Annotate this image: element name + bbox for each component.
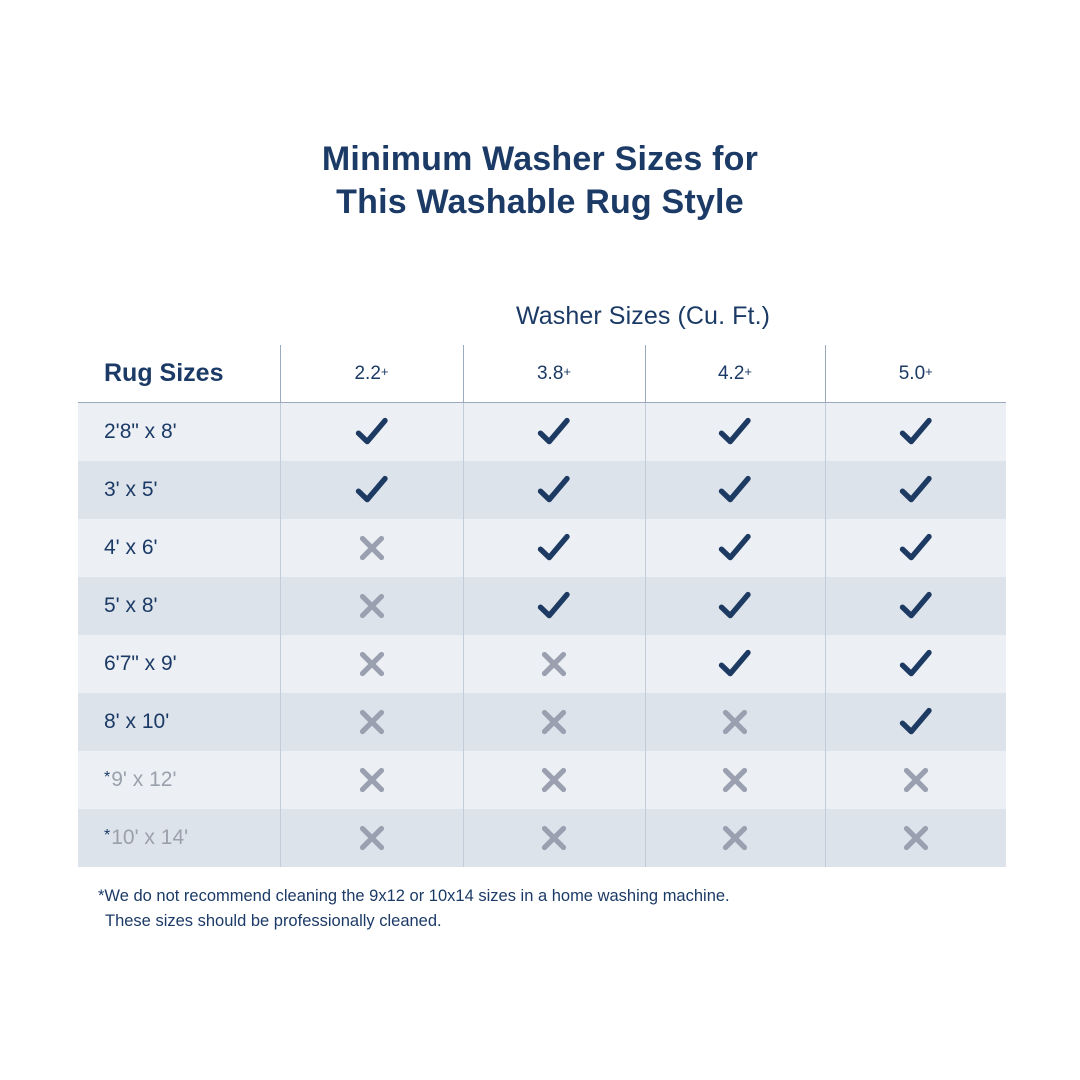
cross-icon	[901, 829, 931, 846]
cell-unsupported	[645, 751, 825, 809]
table-row: 6'7" x 9'	[78, 635, 1006, 693]
rug-size-label: 3' x 5'	[78, 461, 280, 519]
column-header-washer-2-2-value: 2.2	[354, 363, 380, 384]
table-row: 8' x 10'	[78, 693, 1006, 751]
cell-supported	[645, 461, 825, 519]
page-title-line-2: This Washable Rug Style	[0, 181, 1080, 224]
check-icon	[355, 481, 389, 498]
table-header-row: Rug Sizes 2.2+ 3.8+ 4.2+ 5.0+	[78, 345, 1006, 403]
rug-size-label: 4' x 6'	[78, 519, 280, 577]
cross-icon	[539, 713, 569, 730]
page-root: Minimum Washer Sizes for This Washable R…	[0, 0, 1080, 1080]
cross-icon	[357, 655, 387, 672]
cell-unsupported	[645, 693, 825, 751]
rug-size-label: 6'7" x 9'	[78, 635, 280, 693]
cell-supported	[825, 519, 1006, 577]
rug-size-label: 5' x 8'	[78, 577, 280, 635]
cell-unsupported	[825, 809, 1006, 867]
column-header-washer-4-2-value: 4.2	[718, 363, 744, 384]
column-header-washer-2-2: 2.2+	[280, 345, 463, 403]
check-icon	[718, 481, 752, 498]
rug-size-value: 10' x 14'	[111, 826, 188, 849]
cell-supported	[825, 693, 1006, 751]
rug-size-label: *10' x 14'	[78, 809, 280, 867]
cross-icon	[357, 713, 387, 730]
table-row: *9' x 12'	[78, 751, 1006, 809]
table-row: 2'8" x 8'	[78, 403, 1006, 461]
cell-unsupported	[280, 809, 463, 867]
check-icon	[899, 713, 933, 730]
cross-icon	[901, 771, 931, 788]
cell-supported	[280, 403, 463, 461]
column-header-washer-3-8: 3.8+	[463, 345, 645, 403]
column-header-washer-3-8-suffix: +	[563, 364, 571, 379]
cell-unsupported	[825, 751, 1006, 809]
page-title-line-1: Minimum Washer Sizes for	[0, 138, 1080, 181]
rug-size-label: *9' x 12'	[78, 751, 280, 809]
table-row: 5' x 8'	[78, 577, 1006, 635]
cross-icon	[357, 597, 387, 614]
cross-icon	[539, 829, 569, 846]
washer-sizes-group-header: Washer Sizes (Cu. Ft.)	[280, 302, 1006, 331]
check-icon	[899, 423, 933, 440]
rug-size-value: 2'8" x 8'	[104, 420, 177, 443]
column-header-washer-2-2-suffix: +	[381, 364, 389, 379]
check-icon	[537, 597, 571, 614]
cell-supported	[463, 403, 645, 461]
cell-unsupported	[463, 809, 645, 867]
check-icon	[355, 423, 389, 440]
rug-size-value: 5' x 8'	[104, 594, 158, 617]
rug-size-value: 9' x 12'	[111, 768, 176, 791]
column-header-washer-5-0-value: 5.0	[899, 363, 925, 384]
cell-unsupported	[280, 519, 463, 577]
footnote-line-1: *We do not recommend cleaning the 9x12 o…	[98, 884, 978, 909]
cell-supported	[463, 519, 645, 577]
cross-icon	[357, 539, 387, 556]
cell-supported	[463, 461, 645, 519]
cell-unsupported	[463, 635, 645, 693]
page-title: Minimum Washer Sizes for This Washable R…	[0, 138, 1080, 224]
rug-size-label: 8' x 10'	[78, 693, 280, 751]
cell-supported	[645, 519, 825, 577]
cell-unsupported	[463, 693, 645, 751]
check-icon	[899, 597, 933, 614]
rug-size-value: 6'7" x 9'	[104, 652, 177, 675]
check-icon	[899, 481, 933, 498]
cell-supported	[463, 577, 645, 635]
cross-icon	[539, 655, 569, 672]
cross-icon	[720, 713, 750, 730]
footnote-line-2: These sizes should be professionally cle…	[98, 909, 978, 934]
rug-size-value: 3' x 5'	[104, 478, 158, 501]
check-icon	[537, 539, 571, 556]
column-header-washer-3-8-value: 3.8	[537, 363, 563, 384]
cell-unsupported	[645, 809, 825, 867]
washer-compatibility-table: Rug Sizes 2.2+ 3.8+ 4.2+ 5.0+ 2'8" x 8'3…	[78, 345, 1006, 867]
column-header-washer-4-2: 4.2+	[645, 345, 825, 403]
footnote: *We do not recommend cleaning the 9x12 o…	[98, 884, 978, 934]
column-header-washer-5-0-suffix: +	[925, 364, 933, 379]
column-header-washer-5-0: 5.0+	[825, 345, 1006, 403]
cross-icon	[539, 771, 569, 788]
rug-size-value: 4' x 6'	[104, 536, 158, 559]
cell-supported	[825, 461, 1006, 519]
cell-supported	[825, 403, 1006, 461]
check-icon	[718, 597, 752, 614]
column-header-rug-sizes: Rug Sizes	[78, 345, 280, 403]
cell-unsupported	[463, 751, 645, 809]
cell-supported	[645, 635, 825, 693]
check-icon	[718, 655, 752, 672]
rug-size-label: 2'8" x 8'	[78, 403, 280, 461]
cell-supported	[825, 577, 1006, 635]
cell-supported	[825, 635, 1006, 693]
column-header-washer-4-2-suffix: +	[744, 364, 752, 379]
check-icon	[537, 481, 571, 498]
washer-compatibility-table-wrap: Rug Sizes 2.2+ 3.8+ 4.2+ 5.0+ 2'8" x 8'3…	[78, 345, 1006, 867]
table-body: 2'8" x 8'3' x 5'4' x 6'5' x 8'6'7" x 9'8…	[78, 403, 1006, 867]
cross-icon	[357, 771, 387, 788]
check-icon	[718, 539, 752, 556]
cross-icon	[357, 829, 387, 846]
check-icon	[537, 423, 571, 440]
cell-unsupported	[280, 693, 463, 751]
cross-icon	[720, 829, 750, 846]
table-row: 3' x 5'	[78, 461, 1006, 519]
check-icon	[718, 423, 752, 440]
table-row: 4' x 6'	[78, 519, 1006, 577]
cross-icon	[720, 771, 750, 788]
cell-supported	[645, 403, 825, 461]
table-row: *10' x 14'	[78, 809, 1006, 867]
table-header: Rug Sizes 2.2+ 3.8+ 4.2+ 5.0+	[78, 345, 1006, 403]
cell-unsupported	[280, 635, 463, 693]
check-icon	[899, 539, 933, 556]
cell-supported	[280, 461, 463, 519]
footnote-asterisk: *	[104, 769, 110, 786]
footnote-asterisk: *	[104, 827, 110, 844]
cell-supported	[645, 577, 825, 635]
check-icon	[899, 655, 933, 672]
cell-unsupported	[280, 577, 463, 635]
rug-size-value: 8' x 10'	[104, 710, 169, 733]
cell-unsupported	[280, 751, 463, 809]
